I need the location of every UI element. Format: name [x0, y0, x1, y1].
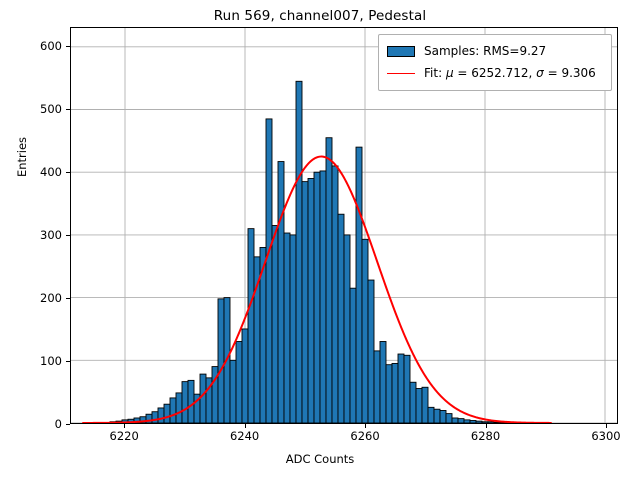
- histogram-bar: [230, 360, 236, 423]
- histogram-bar: [494, 422, 500, 423]
- histogram-bar: [170, 398, 176, 423]
- histogram-bar: [440, 410, 446, 423]
- histogram-bar: [200, 374, 206, 423]
- y-tickmark: [66, 424, 70, 425]
- legend-fit-mu-symbol: μ: [446, 66, 454, 80]
- histogram-bar: [356, 147, 362, 423]
- y-tick-label: 500: [40, 102, 62, 116]
- histogram-bar: [284, 233, 290, 423]
- histogram-bar: [188, 380, 194, 423]
- x-tickmark: [606, 424, 607, 428]
- histogram-bar: [338, 214, 344, 423]
- figure-canvas: Run 569, channel007, Pedestal Entries AD…: [0, 0, 640, 480]
- x-tick-label: 6240: [230, 429, 259, 443]
- x-tickmark: [124, 424, 125, 428]
- x-tick-label: 6220: [110, 429, 139, 443]
- legend-item-fit: Fit: μ = 6252.712, σ = 9.306: [387, 62, 603, 84]
- histogram-bar: [410, 382, 416, 423]
- histogram-bar: [218, 299, 224, 423]
- histogram-bar: [476, 421, 482, 423]
- histogram-bar: [422, 387, 428, 423]
- histogram-bar: [428, 407, 434, 423]
- histogram-bar: [278, 162, 284, 423]
- legend-label-fit: Fit: μ = 6252.712, σ = 9.306: [424, 66, 596, 80]
- histogram-bar: [434, 409, 440, 423]
- legend-label-samples: Samples: RMS=9.27: [424, 44, 546, 58]
- histogram-bar: [326, 138, 332, 423]
- y-tick-label: 600: [40, 39, 62, 53]
- histogram-bar: [404, 355, 410, 423]
- histogram-bar: [362, 239, 368, 423]
- x-tickmark: [365, 424, 366, 428]
- histogram-bar: [176, 393, 182, 423]
- x-tickmark: [486, 424, 487, 428]
- histogram-bar: [290, 235, 296, 423]
- y-tick-label: 400: [40, 165, 62, 179]
- legend-fit-prefix: Fit:: [424, 66, 446, 80]
- histogram-bar: [314, 172, 320, 423]
- histogram-bar: [470, 420, 476, 423]
- x-axis-label: ADC Counts: [0, 452, 640, 466]
- x-tickmark: [245, 424, 246, 428]
- legend-fit-mu-value: = 6252.712,: [454, 66, 537, 80]
- legend-fit-sigma-symbol: σ: [536, 66, 544, 80]
- x-tick-label: 6260: [350, 429, 379, 443]
- histogram-bar: [242, 329, 248, 423]
- y-tick-label: 200: [40, 291, 62, 305]
- histogram-bar: [164, 404, 170, 423]
- histogram-bar: [380, 341, 386, 423]
- x-tick-label: 6300: [591, 429, 620, 443]
- y-tick-label: 300: [40, 228, 62, 242]
- histogram-bar: [374, 351, 380, 423]
- histogram-bar: [368, 280, 374, 423]
- histogram-bar: [464, 420, 470, 423]
- histogram-bar: [302, 182, 308, 423]
- histogram-bar: [236, 341, 242, 423]
- histogram-bar: [482, 422, 488, 423]
- histogram-bar: [350, 288, 356, 423]
- y-axis-label: Entries: [15, 97, 29, 217]
- chart-title: Run 569, channel007, Pedestal: [0, 8, 640, 24]
- histogram-bar: [272, 226, 278, 424]
- histogram-bar: [158, 408, 164, 423]
- histogram-bar: [152, 412, 158, 423]
- y-tick-label: 100: [40, 354, 62, 368]
- histogram-bar: [386, 365, 392, 423]
- histogram-bar: [266, 119, 272, 423]
- histogram-bars: [110, 81, 518, 423]
- y-tick-label: 0: [55, 417, 62, 431]
- legend-swatch-patch-icon: [387, 46, 415, 57]
- histogram-bar: [488, 422, 494, 423]
- chart-legend: Samples: RMS=9.27 Fit: μ = 6252.712, σ =…: [378, 34, 612, 91]
- legend-fit-sigma-value: = 9.306: [544, 66, 596, 80]
- histogram-bar: [398, 354, 404, 423]
- histogram-bar: [182, 382, 188, 423]
- histogram-bar: [416, 389, 422, 423]
- histogram-bar: [320, 171, 326, 423]
- histogram-bar: [458, 419, 464, 423]
- x-tick-label: 6280: [471, 429, 500, 443]
- histogram-bar: [296, 81, 302, 423]
- histogram-bar: [452, 418, 458, 423]
- legend-swatch-line-icon: [387, 73, 415, 74]
- histogram-bar: [308, 178, 314, 423]
- histogram-bar: [446, 414, 452, 423]
- legend-item-samples: Samples: RMS=9.27: [387, 40, 603, 62]
- histogram-bar: [332, 166, 338, 423]
- histogram-bar: [344, 235, 350, 423]
- histogram-bar: [392, 363, 398, 423]
- histogram-bar: [248, 229, 254, 423]
